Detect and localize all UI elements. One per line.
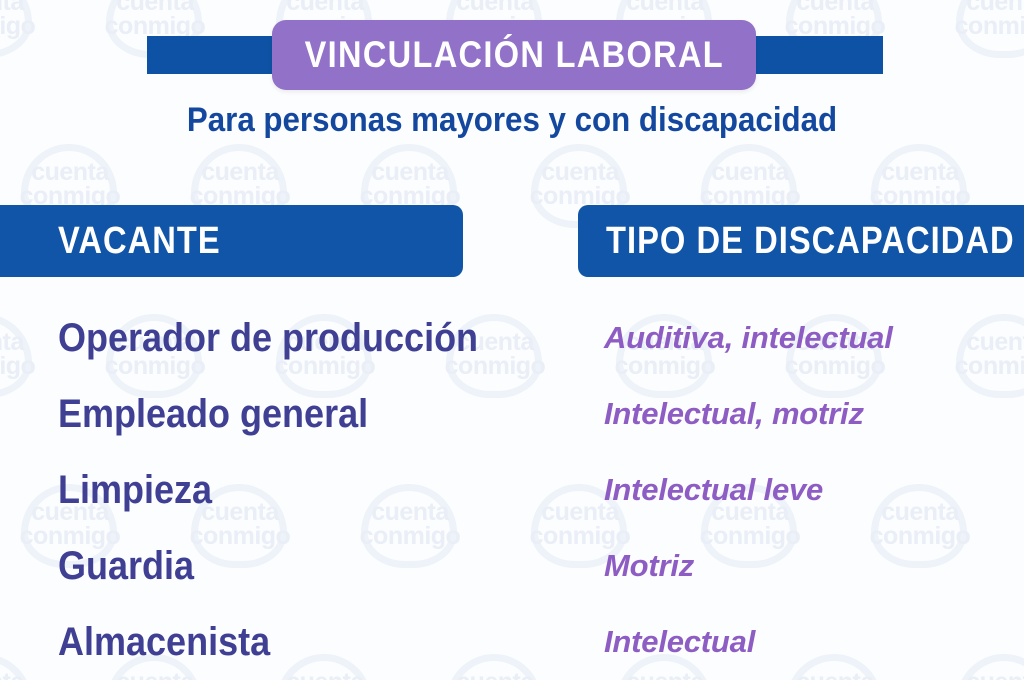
watermark-text-line1: cuenta — [163, 160, 317, 185]
watermark-text-line1: cuenta — [928, 0, 1024, 15]
watermark-text-line1: cuenta — [0, 0, 62, 15]
watermark-text-line1: cuenta — [1013, 160, 1024, 185]
watermark-text-line1: cuenta — [673, 160, 827, 185]
cell-tipo-discapacidad: Intelectual — [604, 604, 755, 680]
cell-vacante: Limpieza — [58, 452, 212, 528]
table-row: Operador de producciónAuditiva, intelect… — [0, 300, 1024, 376]
watermark-text-line1: cuenta — [843, 160, 997, 185]
watermark-cloud-icon — [0, 0, 32, 58]
column-header-tipo-discapacidad-label: TIPO DE DISCAPACIDAD — [606, 220, 1015, 263]
cell-tipo-discapacidad: Motriz — [604, 528, 694, 604]
watermark-text-line1: cuenta — [503, 160, 657, 185]
cell-tipo-discapacidad: Intelectual leve — [604, 452, 823, 528]
column-header-vacante-label: VACANTE — [58, 220, 221, 263]
poster-canvas: cuentaconmigocuentaconmigocuentaconmigoc… — [0, 0, 1024, 680]
cell-vacante: Empleado general — [58, 376, 368, 452]
watermark-text-line1: cuenta — [588, 0, 742, 15]
table-row: LimpiezaIntelectual leve — [0, 452, 1024, 528]
watermark-text-line1: cuenta — [0, 160, 147, 185]
vacancy-table-body: Operador de producciónAuditiva, intelect… — [0, 300, 1024, 680]
poster-subtitle: Para personas mayores y con discapacidad — [41, 101, 983, 140]
watermark-text-line1: cuenta — [78, 0, 232, 15]
column-header-tipo-discapacidad: TIPO DE DISCAPACIDAD — [578, 205, 1024, 277]
poster-title: VINCULACIÓN LABORAL — [304, 34, 723, 76]
watermark-cloud-icon — [956, 0, 1024, 58]
cell-tipo-discapacidad: Auditiva, intelectual — [604, 300, 893, 376]
table-row: AlmacenistaIntelectual — [0, 604, 1024, 680]
watermark-text-line1: cuenta — [333, 160, 487, 185]
column-header-vacante: VACANTE — [0, 205, 463, 277]
table-row: GuardiaMotriz — [0, 528, 1024, 604]
watermark-text-line2: conmigo — [928, 14, 1024, 39]
table-row: Empleado generalIntelectual, motriz — [0, 376, 1024, 452]
cell-vacante: Operador de producción — [58, 300, 478, 376]
cell-vacante: Almacenista — [58, 604, 270, 680]
watermark-text-line1: cuenta — [248, 0, 402, 15]
watermark-text-line1: cuenta — [758, 0, 912, 15]
cell-vacante: Guardia — [58, 528, 194, 604]
watermark-text-line2: conmigo — [0, 14, 62, 39]
cell-tipo-discapacidad: Intelectual, motriz — [604, 376, 864, 452]
title-badge: VINCULACIÓN LABORAL — [272, 20, 756, 90]
watermark-text-line1: cuenta — [418, 0, 572, 15]
